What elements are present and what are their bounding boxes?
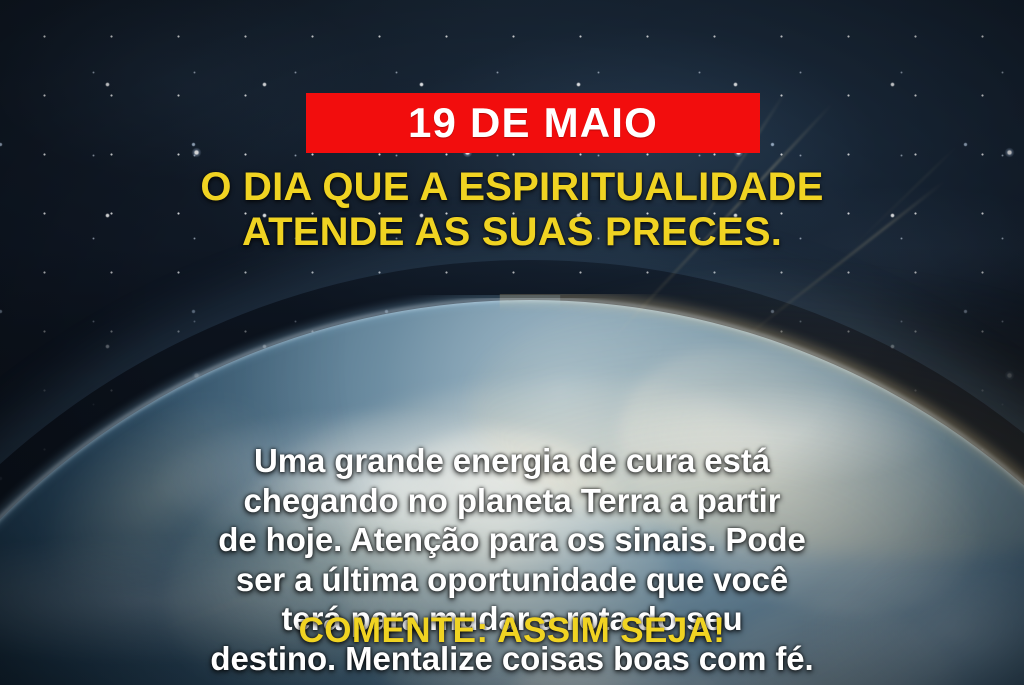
body-line-3: de hoje. Atenção para os sinais. Pode	[0, 520, 1024, 560]
headline-line-2: ATENDE AS SUAS PRECES.	[0, 210, 1024, 255]
poster-image: 19 DE MAIO O DIA QUE A ESPIRITUALIDADE A…	[0, 0, 1024, 685]
body-line-4: ser a última oportunidade que você	[0, 560, 1024, 600]
headline: O DIA QUE A ESPIRITUALIDADE ATENDE AS SU…	[0, 165, 1024, 255]
body-line-1: Uma grande energia de cura está	[0, 441, 1024, 481]
date-banner-text: 19 DE MAIO	[408, 102, 658, 144]
body-line-2: chegando no planeta Terra a partir	[0, 481, 1024, 521]
headline-line-1: O DIA QUE A ESPIRITUALIDADE	[0, 165, 1024, 210]
poster-content: 19 DE MAIO O DIA QUE A ESPIRITUALIDADE A…	[0, 0, 1024, 685]
call-to-action-text: COMENTE: ASSIM SEJA!	[0, 612, 1024, 651]
date-banner: 19 DE MAIO	[306, 93, 760, 153]
